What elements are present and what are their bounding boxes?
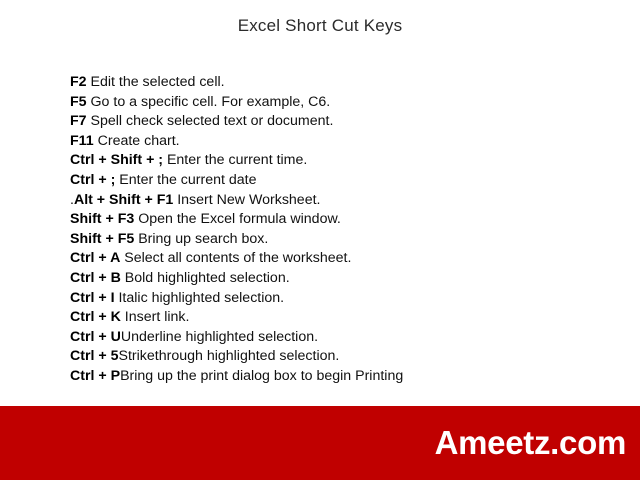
shortcut-item: Ctrl + K Insert link.: [70, 308, 590, 328]
shortcut-key: Ctrl + U: [70, 329, 121, 345]
shortcut-item: Ctrl + 5Strikethrough highlighted select…: [70, 347, 590, 367]
footer-banner: Ameetz.com: [0, 406, 640, 480]
shortcut-key: Ctrl + 5: [70, 348, 119, 364]
shortcut-key: Shift + F5: [70, 231, 134, 247]
shortcut-description: Enter the current time.: [163, 152, 307, 168]
shortcut-item: Ctrl + UUnderline highlighted selection.: [70, 328, 590, 348]
shortcut-item: Ctrl + PBring up the print dialog box to…: [70, 367, 590, 387]
shortcut-key: Ctrl + P: [70, 368, 120, 384]
shortcut-key: F7: [70, 113, 87, 129]
shortcut-description: Select all contents of the worksheet.: [120, 250, 351, 266]
shortcut-key: Shift + F3: [70, 211, 134, 227]
shortcut-description: Bring up search box.: [134, 231, 268, 247]
shortcut-item: F11 Create chart.: [70, 132, 590, 152]
shortcut-list: F2 Edit the selected cell.F5 Go to a spe…: [70, 73, 590, 387]
shortcut-item: Shift + F5 Bring up search box.: [70, 230, 590, 250]
shortcut-description: Bold highlighted selection.: [121, 270, 290, 286]
shortcut-item: F7 Spell check selected text or document…: [70, 112, 590, 132]
shortcut-description: Edit the selected cell.: [87, 74, 225, 90]
shortcut-key: Ctrl + I: [70, 290, 115, 306]
shortcut-key: Alt + Shift + F1: [74, 192, 173, 208]
shortcut-item: Ctrl + Shift + ; Enter the current time.: [70, 151, 590, 171]
shortcut-key: Ctrl + ;: [70, 172, 115, 188]
shortcut-description: Italic highlighted selection.: [115, 290, 285, 306]
shortcut-key: Ctrl + Shift + ;: [70, 152, 163, 168]
shortcut-description: Open the Excel formula window.: [134, 211, 341, 227]
shortcut-key: F11: [70, 133, 94, 149]
shortcut-item: F2 Edit the selected cell.: [70, 73, 590, 93]
shortcut-item: Ctrl + I Italic highlighted selection.: [70, 289, 590, 309]
shortcut-item: Ctrl + ; Enter the current date: [70, 171, 590, 191]
shortcut-description: Strikethrough highlighted selection.: [119, 348, 340, 364]
slide-canvas: Excel Short Cut Keys F2 Edit the selecte…: [0, 0, 640, 480]
shortcut-item: Ctrl + B Bold highlighted selection.: [70, 269, 590, 289]
shortcut-description: Enter the current date: [115, 172, 256, 188]
shortcut-description: Insert link.: [121, 309, 190, 325]
shortcut-description: Bring up the print dialog box to begin P…: [120, 368, 403, 384]
shortcut-key: Ctrl + B: [70, 270, 121, 286]
shortcut-key: Ctrl + A: [70, 250, 120, 266]
shortcut-key: Ctrl + K: [70, 309, 121, 325]
shortcut-key: F5: [70, 94, 87, 110]
shortcut-item: Shift + F3 Open the Excel formula window…: [70, 210, 590, 230]
shortcut-description: Go to a specific cell. For example, C6.: [87, 94, 331, 110]
site-logo: Ameetz.com: [435, 424, 626, 462]
shortcut-description: Spell check selected text or document.: [87, 113, 334, 129]
shortcut-item: F5 Go to a specific cell. For example, C…: [70, 93, 590, 113]
shortcut-item: .Alt + Shift + F1 Insert New Worksheet.: [70, 191, 590, 211]
shortcut-description: Create chart.: [94, 133, 180, 149]
shortcut-description: Underline highlighted selection.: [121, 329, 318, 345]
page-title: Excel Short Cut Keys: [0, 16, 640, 36]
shortcut-key: F2: [70, 74, 87, 90]
shortcut-item: Ctrl + A Select all contents of the work…: [70, 249, 590, 269]
shortcut-description: Insert New Worksheet.: [173, 192, 320, 208]
